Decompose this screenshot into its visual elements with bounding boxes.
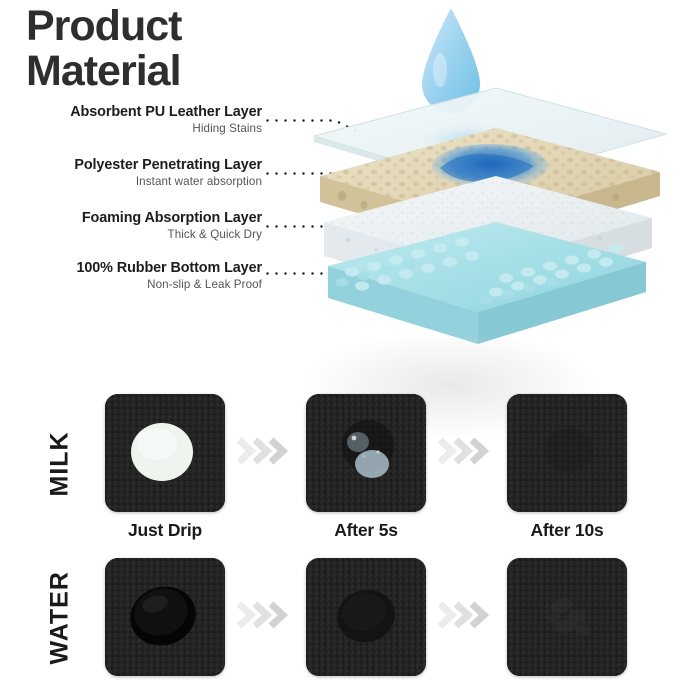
- progress-chevrons-milk-2: [438, 434, 500, 468]
- layer-label-0-desc: Hiding Stains: [0, 122, 262, 135]
- infographic-canvas: Product Material Absorbent PU Leather La…: [0, 0, 679, 682]
- layer-label-3-desc: Non-slip & Leak Proof: [0, 278, 262, 291]
- progress-chevrons-water-1: [237, 598, 299, 632]
- row-label-milk: MILK: [46, 437, 75, 497]
- test-panel-water-1[interactable]: [306, 558, 426, 676]
- test-panel-water-2[interactable]: [507, 558, 627, 676]
- layer-label-1-desc: Instant water absorption: [0, 175, 262, 188]
- page-title: Product Material: [26, 4, 181, 94]
- layer-label-1-title: Polyester Penetrating Layer: [0, 157, 262, 173]
- layer-label-3-title: 100% Rubber Bottom Layer: [0, 260, 262, 276]
- test-panel-milk-2[interactable]: [507, 394, 627, 512]
- layer-label-0: Absorbent PU Leather Layer Hiding Stains: [0, 104, 262, 135]
- layer-label-1: Polyester Penetrating Layer Instant wate…: [0, 157, 262, 188]
- progress-chevrons-milk-1: [237, 434, 299, 468]
- caption-1: After 5s: [306, 520, 426, 541]
- absorption-test-grid: MILK WATER: [0, 372, 679, 682]
- caption-2: After 10s: [507, 520, 627, 541]
- test-panel-milk-1[interactable]: [306, 394, 426, 512]
- test-panel-water-0[interactable]: [105, 558, 225, 676]
- layer-label-2-title: Foaming Absorption Layer: [0, 210, 262, 226]
- layer-label-2-desc: Thick & Quick Dry: [0, 228, 262, 241]
- row-label-water: WATER: [46, 589, 75, 665]
- layer-label-0-title: Absorbent PU Leather Layer: [0, 104, 262, 120]
- layer-label-2: Foaming Absorption Layer Thick & Quick D…: [0, 210, 262, 241]
- layer-label-3: 100% Rubber Bottom Layer Non-slip & Leak…: [0, 260, 262, 291]
- material-layers-illustration: [300, 0, 679, 372]
- caption-0: Just Drip: [105, 520, 225, 541]
- progress-chevrons-water-2: [438, 598, 500, 632]
- test-panel-milk-0[interactable]: [105, 394, 225, 512]
